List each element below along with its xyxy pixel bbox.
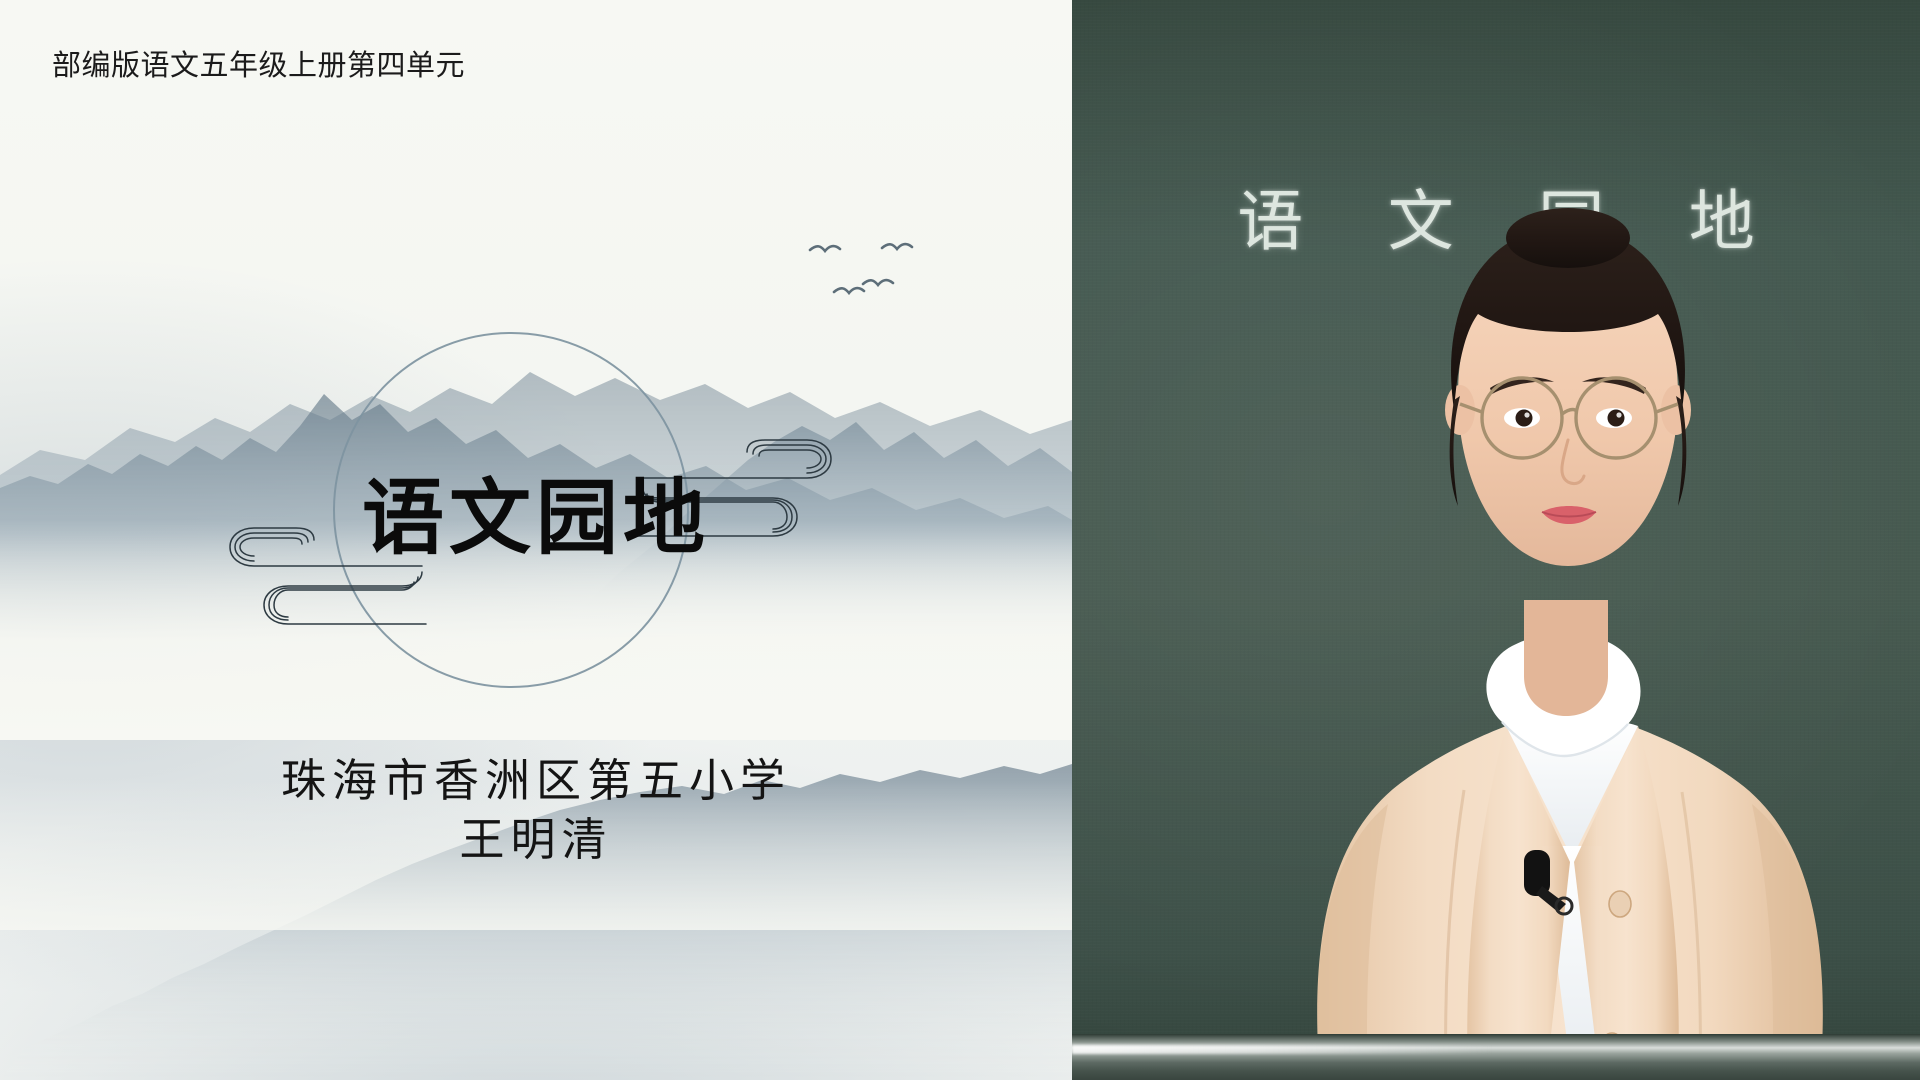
teacher-name: 王明清 [0,811,1072,870]
byline-block: 珠海市香洲区第五小学 王明清 [0,752,1072,871]
chalk-ledge-highlight [1072,1045,1492,1054]
flying-birds-icon [790,222,940,322]
video-panel: 语 文 园 地 [1072,0,1920,1080]
slide-panel: 部编版语文五年级上册第四单元 [0,0,1072,1080]
teacher-presenter [1072,0,1920,1080]
page-title: 语文园地 [0,478,1072,560]
school-name: 珠海市香洲区第五小学 [0,752,1072,811]
unit-header-label: 部编版语文五年级上册第四单元 [52,48,465,84]
presentation-stage: 部编版语文五年级上册第四单元 [0,0,1920,1080]
chalk-ledge [1072,1034,1920,1080]
